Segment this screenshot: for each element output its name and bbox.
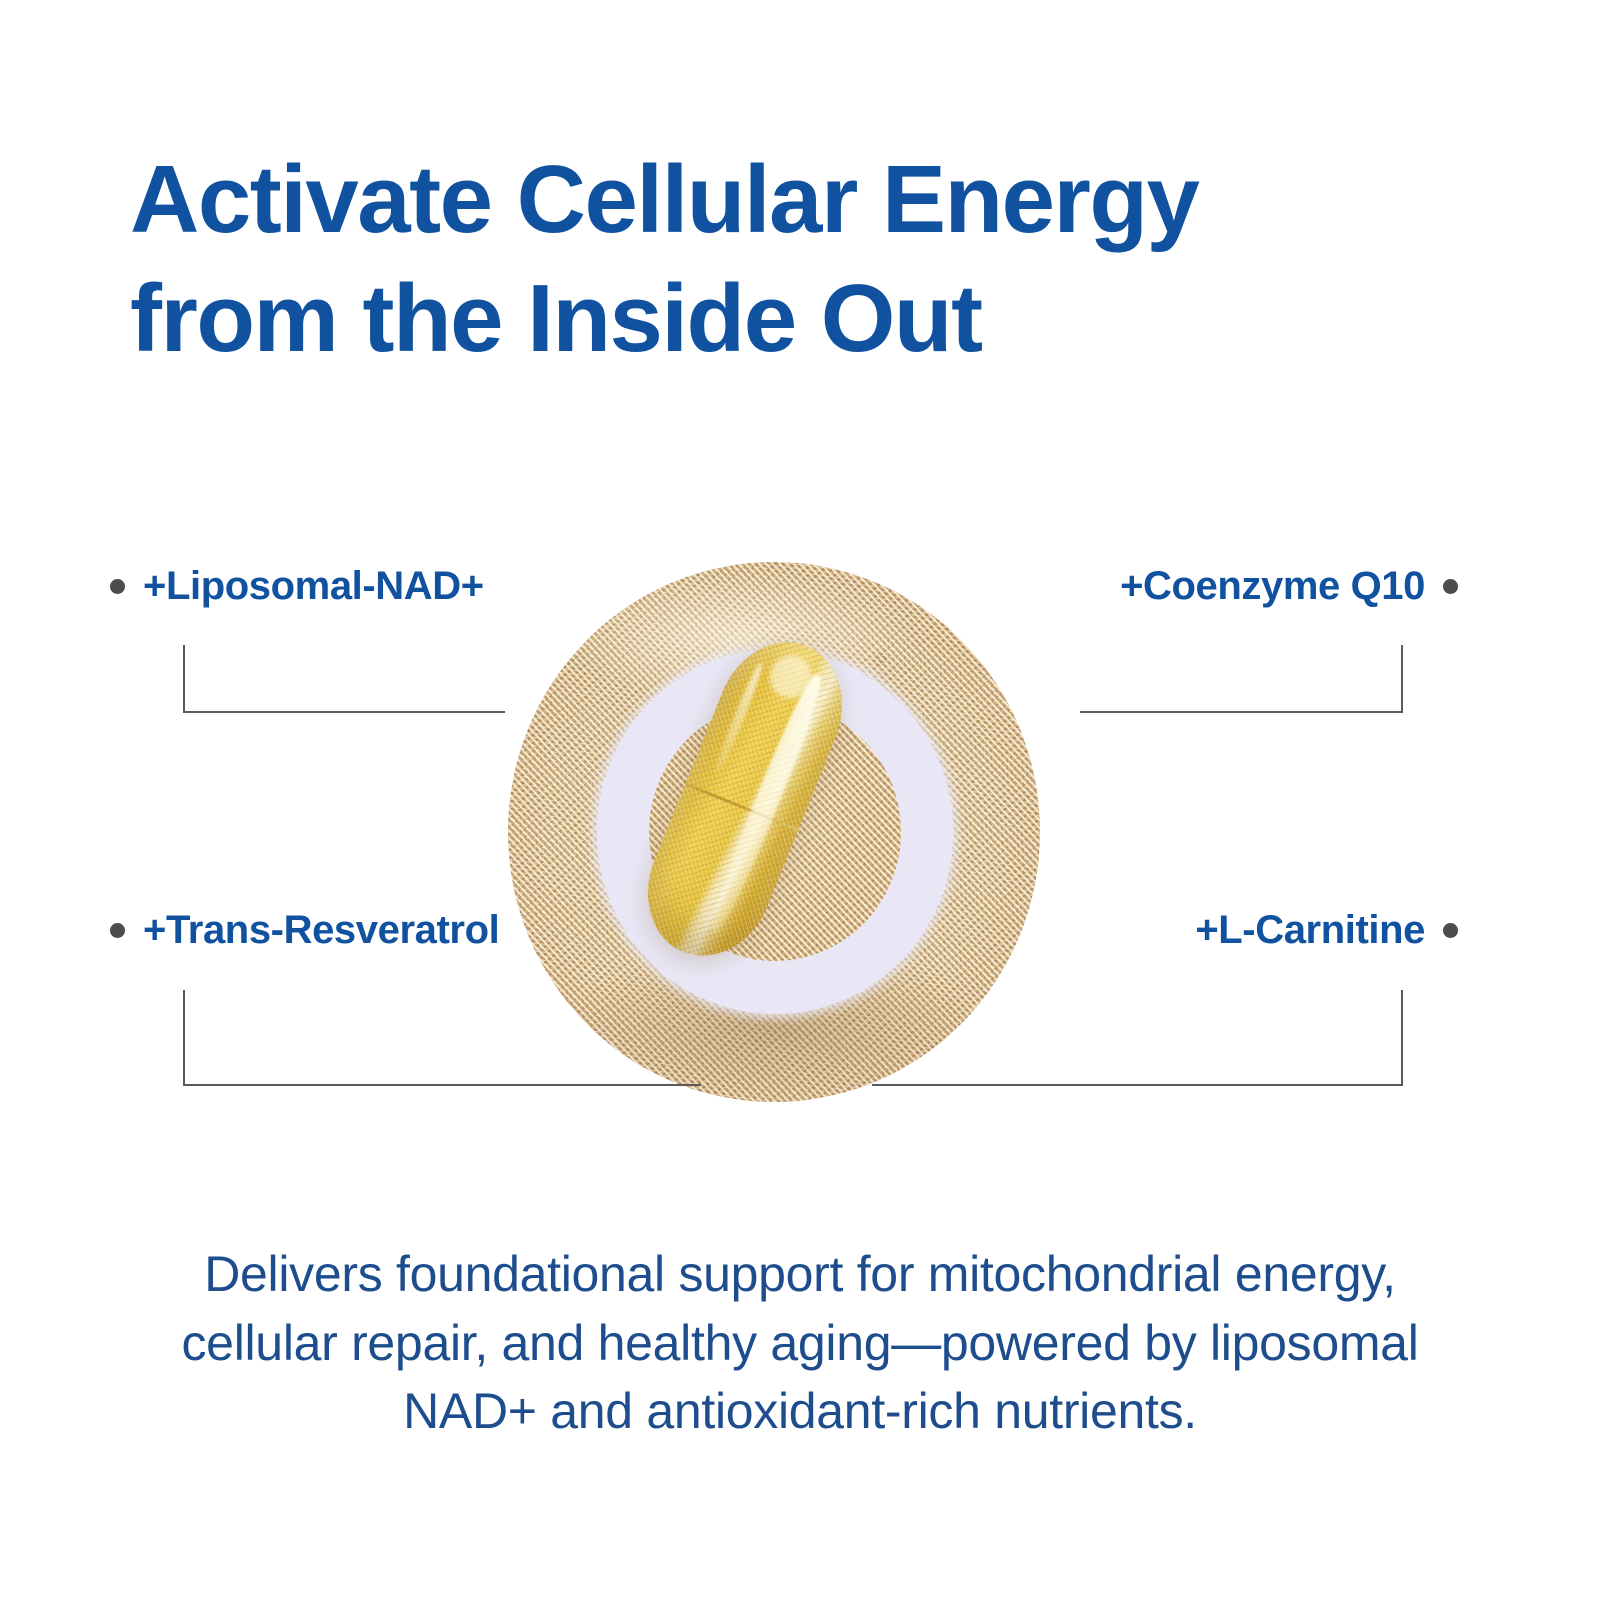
bullet-dot-icon [1443, 923, 1458, 938]
bullet-dot-icon [1443, 579, 1458, 594]
product-hero-image [508, 562, 1040, 1102]
connector-line-top-left-horizontal [183, 711, 505, 713]
connector-line-bottom-left-horizontal [183, 1084, 701, 1086]
product-description: Delivers foundational support for mitoch… [140, 1240, 1460, 1446]
connector-line-bottom-right-horizontal [872, 1084, 1403, 1086]
page-title: Activate Cellular Energy from the Inside… [130, 140, 1490, 378]
callout-label-text: +Trans-Resveratrol [143, 908, 499, 953]
callout-trans-resveratrol: +Trans-Resveratrol [110, 908, 499, 953]
connector-line-top-right-vertical [1401, 645, 1403, 713]
callout-coenzyme-q10: +Coenzyme Q10 [1120, 564, 1458, 609]
callout-label-text: +Coenzyme Q10 [1120, 564, 1425, 609]
callout-label-text: +Liposomal-NAD+ [143, 564, 484, 609]
bullet-dot-icon [110, 579, 125, 594]
connector-line-bottom-right-vertical [1401, 990, 1403, 1086]
connector-line-bottom-left-vertical [183, 990, 185, 1086]
connector-line-top-left-vertical [183, 645, 185, 713]
connector-line-top-right-horizontal [1080, 711, 1403, 713]
callout-l-carnitine: +L-Carnitine [1195, 908, 1458, 953]
bullet-dot-icon [110, 923, 125, 938]
callout-label-text: +L-Carnitine [1195, 908, 1425, 953]
callout-liposomal-nad: +Liposomal-NAD+ [110, 564, 484, 609]
